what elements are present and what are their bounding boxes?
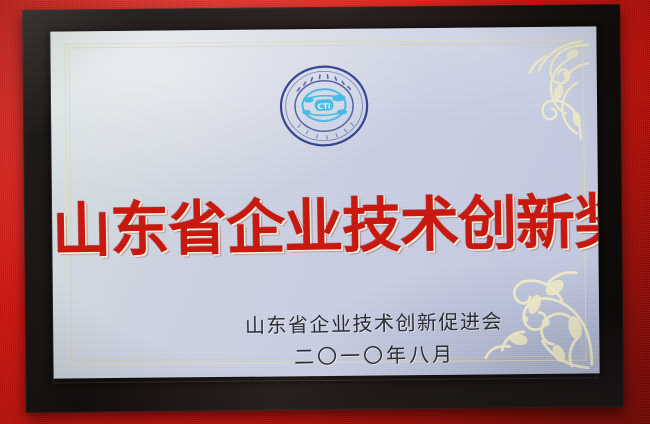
- photo-canvas: CTI 山东省企业技术创新奖 山东省企业技术创新促进会 二〇一〇年八月: [0, 0, 650, 424]
- svg-text:CTI: CTI: [317, 102, 331, 111]
- plaque-title: 山东省企业技术创新奖: [52, 192, 599, 260]
- official-seal-icon: CTI: [276, 61, 373, 152]
- issue-date: 二〇一〇年八月: [245, 341, 503, 371]
- issuing-organization: 山东省企业技术创新促进会: [245, 309, 503, 339]
- signature-block: 山东省企业技术创新促进会 二〇一〇年八月: [245, 309, 504, 371]
- plaque-panel: CTI 山东省企业技术创新奖 山东省企业技术创新促进会 二〇一〇年八月: [50, 26, 599, 378]
